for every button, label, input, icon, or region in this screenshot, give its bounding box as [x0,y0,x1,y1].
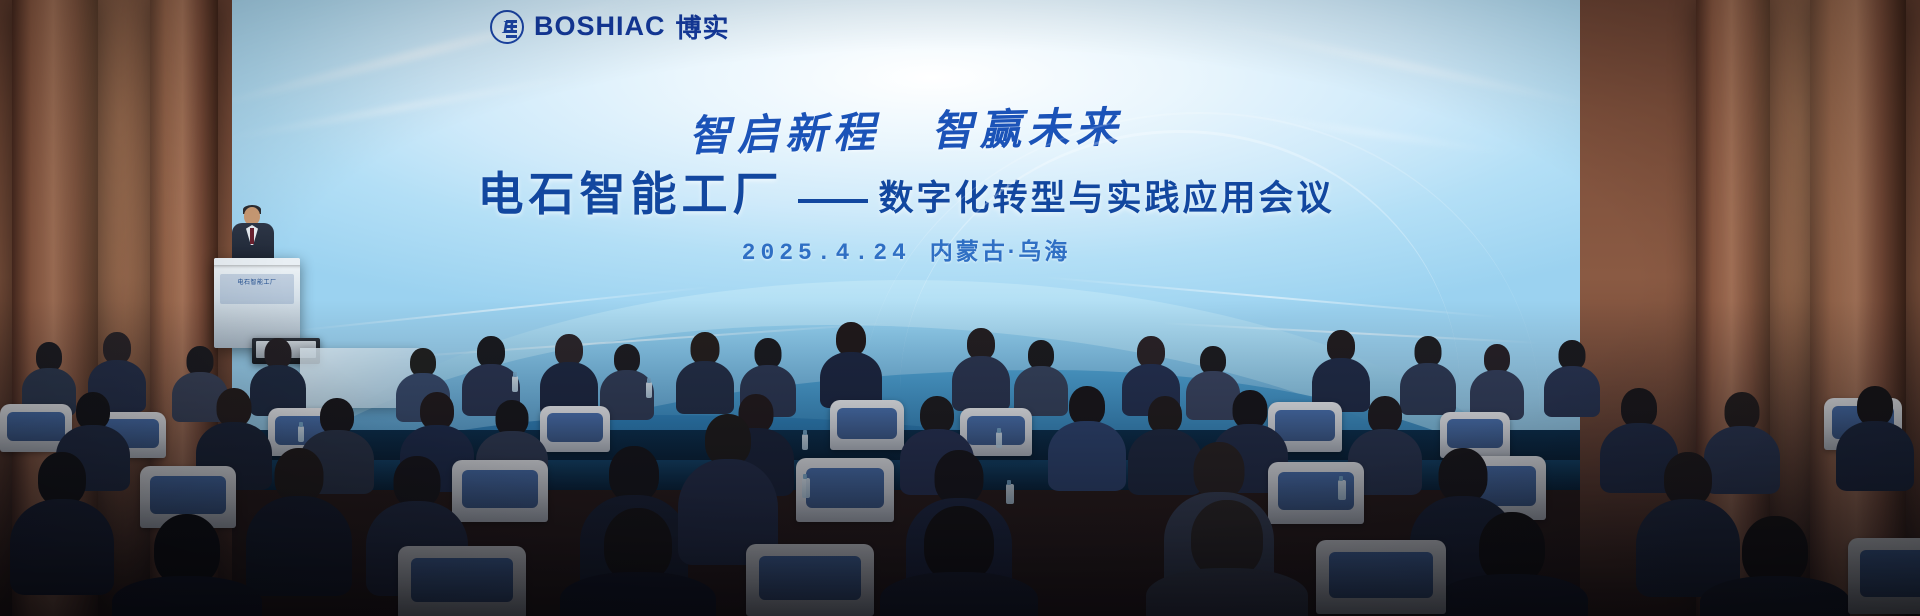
emblem-bars-icon [506,20,517,38]
water-bottle [1338,480,1346,500]
person-head [609,446,659,502]
chair-cushion [150,476,227,514]
slogan-part-1: 智启新程 [688,111,881,161]
water-bottle [646,382,652,398]
person-head [1069,386,1105,426]
boshiac-logo: B BOSHIAC 博实 [490,8,730,45]
audience-person [600,344,654,418]
person-torso [560,572,716,616]
chair-cushion [806,468,884,508]
water-bottle [512,376,518,392]
person-head [604,508,672,582]
audience-person [112,514,262,616]
person-head [935,450,984,505]
water-bottle [802,478,810,498]
audience-person [880,506,1038,616]
chair-cushion [1860,550,1920,597]
audience-person [540,334,598,414]
podium-top [214,258,300,265]
person-head [924,506,994,582]
speaker-tie [250,228,254,244]
audience-person [1470,344,1524,418]
chair-cushion [462,470,539,508]
title-dash-rule [798,199,868,203]
audience-person [1836,386,1914,490]
person-torso [1836,421,1914,491]
person-head [1194,442,1245,499]
boshiac-emblem-icon: B [490,10,524,44]
audience-area [0,300,1920,616]
chair [398,546,526,616]
audience-person [820,322,882,406]
chair-cushion [837,408,896,439]
person-head [1621,388,1657,428]
audience-person [1048,386,1126,490]
chair-cushion [547,413,603,442]
audience-person [1700,516,1850,616]
logo-chinese-mark: 博实 [676,8,730,45]
audience-person [1146,500,1308,616]
person-torso [1048,421,1126,491]
conference-hall-photo: B BOSHIAC 博实 智启新程 智赢未来 电石智能工厂 数字化转型与实践应用… [0,0,1920,616]
person-torso [1544,366,1600,417]
audience-person [1544,340,1600,416]
person-head [1664,452,1712,506]
chair [746,544,874,616]
chair [1848,538,1920,614]
audience-person [1436,512,1588,616]
person-head [275,448,324,503]
audience-person [10,452,114,592]
person-head [1857,386,1893,426]
person-torso [10,499,114,595]
person-head [836,322,866,356]
water-bottle [996,432,1002,448]
speaker-presenter [228,207,276,265]
chair [1316,540,1446,614]
person-head [38,452,86,506]
chair-cushion [1329,552,1433,598]
person-head [1191,500,1263,578]
banner-title-main: 电石智能工厂 [478,168,784,220]
person-torso [1146,568,1308,616]
person-head [1439,448,1488,503]
water-bottle [802,434,808,450]
chair-cushion [411,558,513,603]
person-torso [1700,576,1850,616]
chair [830,400,904,450]
chair-cushion [1447,419,1503,448]
chair-cushion [759,556,861,601]
audience-person [560,508,716,616]
person-torso [1436,574,1588,616]
person-torso [880,572,1038,616]
banner-date: 2025.4.24 [742,240,911,266]
logo-wordmark: BOSHIAC [534,11,666,42]
person-torso [112,576,262,616]
